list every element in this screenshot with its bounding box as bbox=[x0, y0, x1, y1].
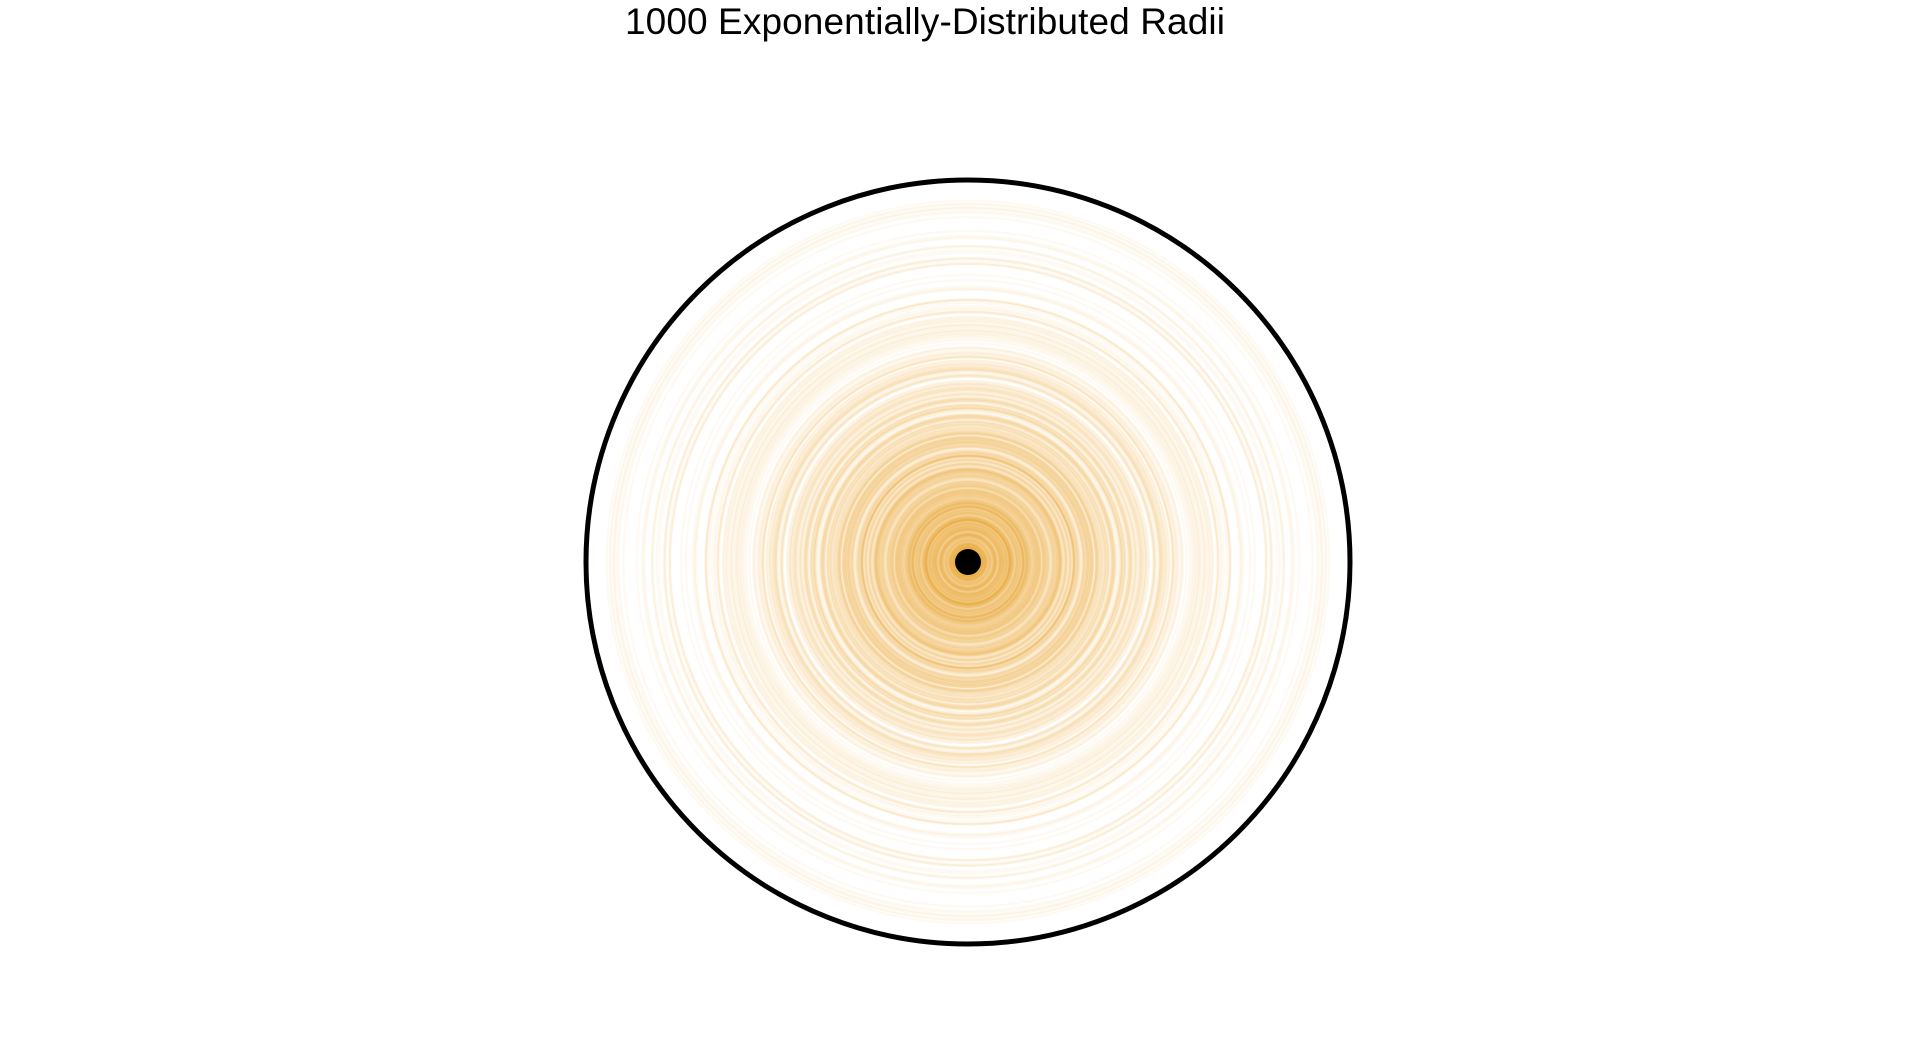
center-origin-dot bbox=[955, 549, 981, 575]
plot-area bbox=[0, 0, 1920, 1056]
figure-canvas: 1000 Exponentially-Distributed Radii bbox=[0, 0, 1920, 1056]
rings-plot bbox=[0, 0, 1920, 1056]
